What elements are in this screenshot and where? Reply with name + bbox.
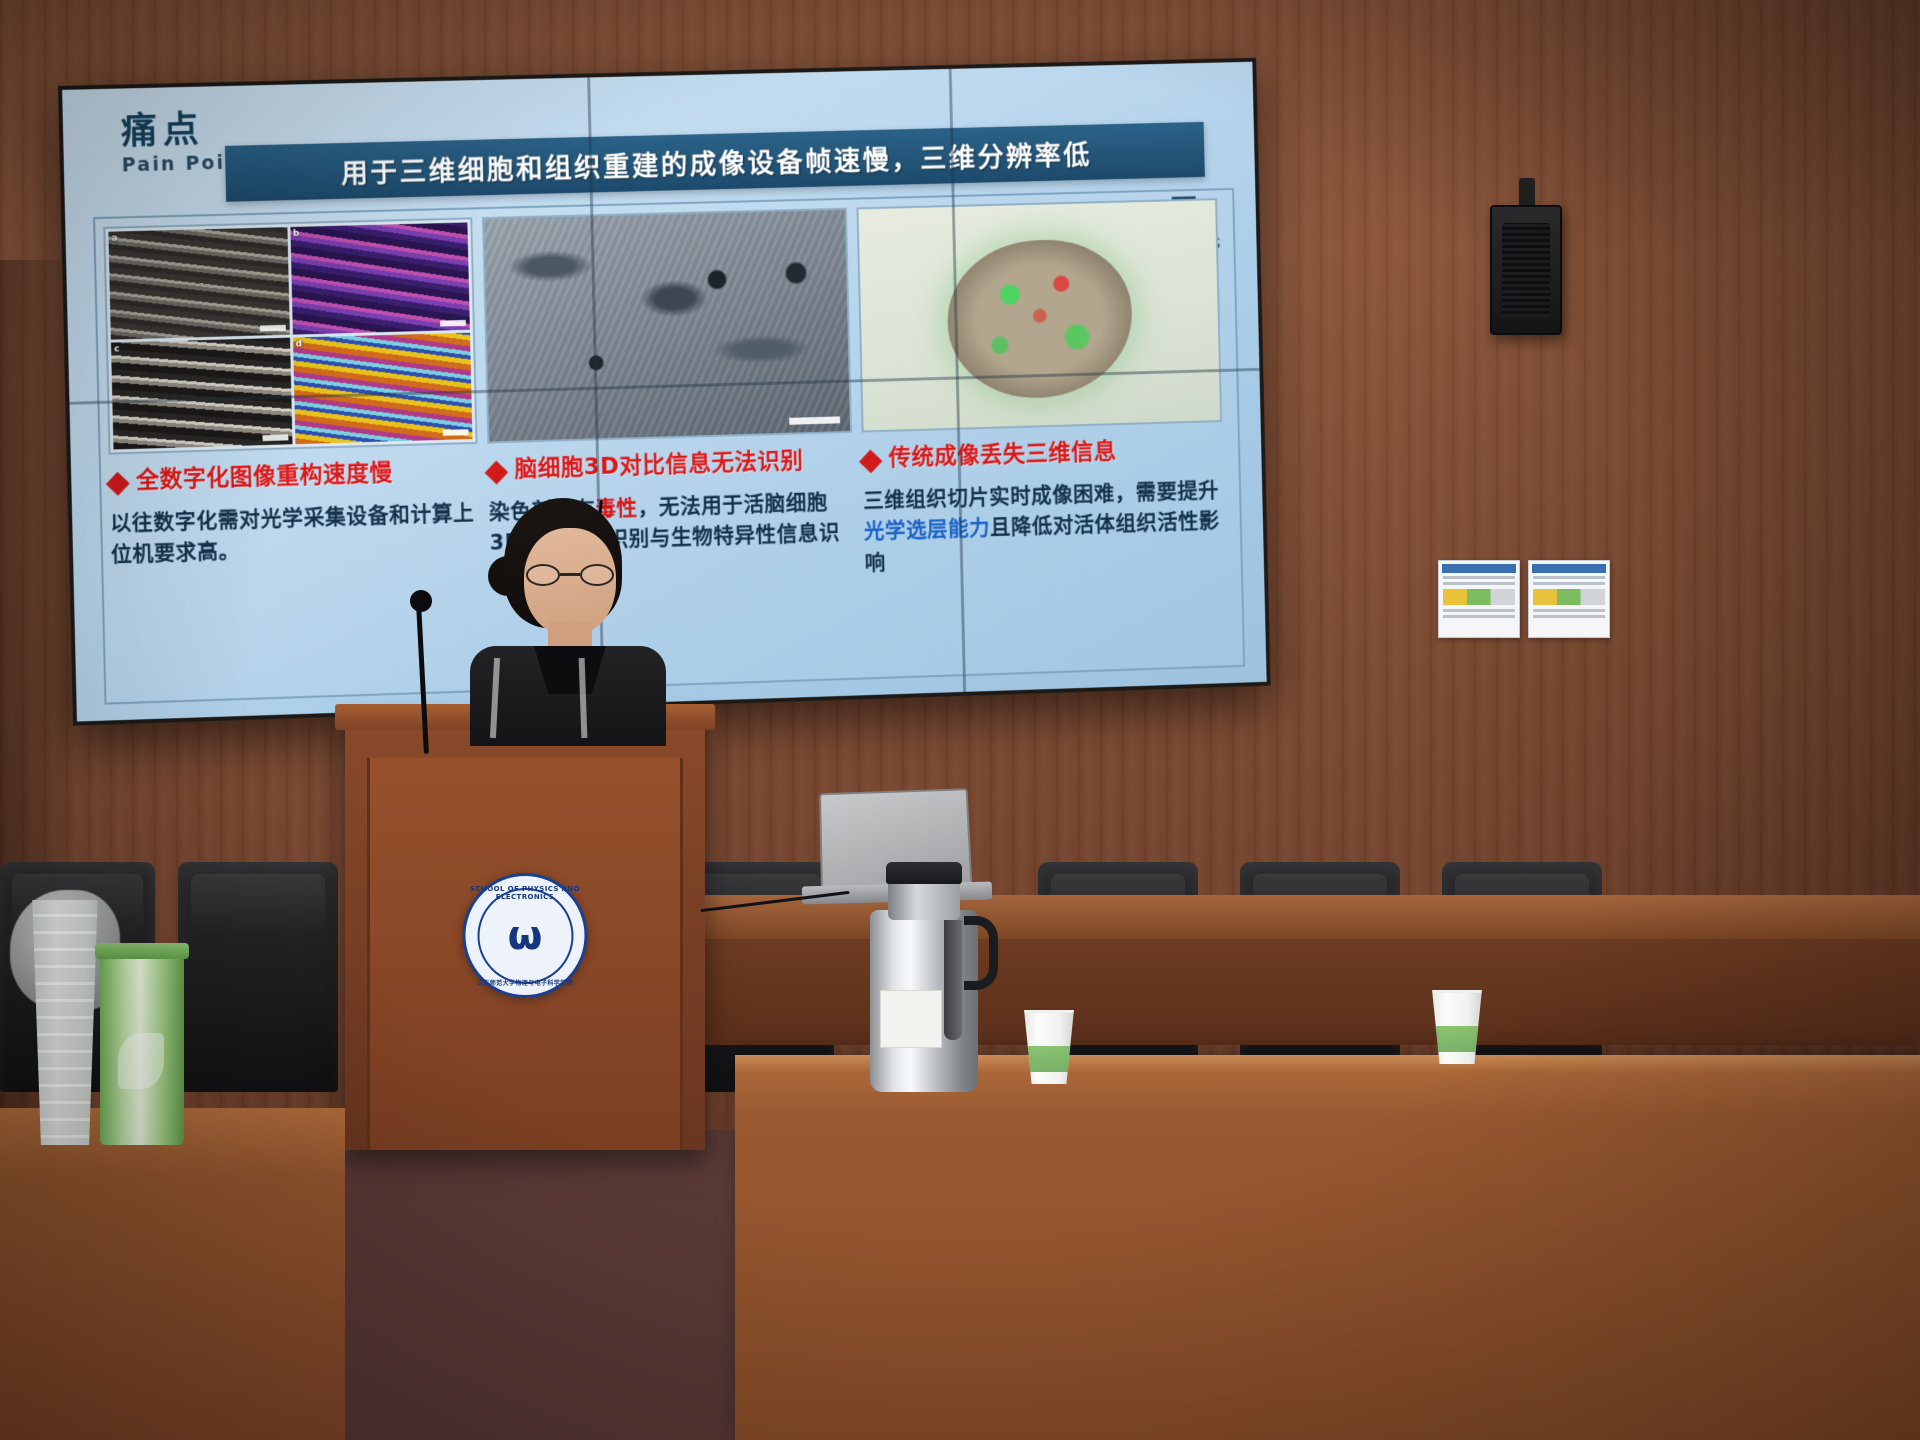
scalebar-icon — [440, 319, 466, 326]
thermos-label — [880, 990, 942, 1048]
emblem-arc-top-text: SCHOOL OF PHYSICS AND ELECTRONICS — [466, 885, 585, 901]
figure-quad-images: a b c d — [103, 217, 477, 454]
figure-panel-d: d — [292, 332, 472, 444]
figure-em-tissue — [482, 208, 852, 444]
body-right: 三维组织切片实时成像困难，需要提升光学选层能力且降低对活体组织活性影响 — [863, 475, 1226, 579]
wall-poster-2 — [1528, 560, 1610, 638]
bullet-middle: 脑细胞3D对比信息无法识别 — [488, 447, 853, 485]
bullet-right: 传统成像丢失三维信息 — [862, 436, 1223, 474]
diamond-bullet-icon — [485, 461, 509, 485]
emblem-arc-bottom-text: 山东师范大学物理与电子科学学院 — [466, 978, 585, 987]
heading-left: 全数字化图像重构速度慢 — [136, 460, 393, 495]
glasses-icon — [526, 564, 614, 586]
figure-tag-a: a — [111, 234, 117, 244]
figure-tag-d: d — [295, 339, 302, 349]
body-right-highlight: 光学选层能力 — [864, 516, 991, 544]
body-right-pre: 三维组织切片实时成像困难，需要提升 — [863, 478, 1219, 512]
figure-panel-c: c — [111, 337, 292, 449]
thermos-handle[interactable] — [964, 916, 998, 990]
figure-panel-a: a — [108, 227, 289, 339]
left-table — [0, 1108, 345, 1440]
slide-column-right: 传统成像丢失三维信息 三维组织切片实时成像困难，需要提升光学选层能力且降低对活体… — [856, 198, 1227, 671]
front-table — [735, 1055, 1920, 1440]
wall-poster-1 — [1438, 560, 1520, 638]
diamond-bullet-icon — [859, 450, 882, 474]
heading-right: 传统成像丢失三维信息 — [888, 439, 1117, 473]
lectern: SCHOOL OF PHYSICS AND ELECTRONICS ω 山东师范… — [345, 718, 705, 1150]
university-emblem: SCHOOL OF PHYSICS AND ELECTRONICS ω 山东师范… — [463, 873, 588, 998]
scalebar-icon — [262, 434, 288, 441]
scalebar-icon — [789, 416, 840, 424]
presenter — [452, 498, 682, 738]
slide-column-left: a b c d — [103, 217, 483, 696]
wall-speaker — [1490, 205, 1562, 335]
recycle-bin[interactable] — [100, 955, 184, 1145]
slide-title-chinese: 痛点 — [121, 112, 205, 150]
chair[interactable] — [178, 862, 338, 1092]
slide-banner-text: 用于三维细胞和组织重建的成像设备帧速慢，三维分辨率低 — [341, 133, 1093, 190]
slide-banner: 用于三维细胞和组织重建的成像设备帧速慢，三维分辨率低 — [225, 122, 1205, 202]
lectern-front-panel: SCHOOL OF PHYSICS AND ELECTRONICS ω 山东师范… — [367, 758, 683, 1150]
figure-tag-c: c — [114, 344, 120, 354]
leaf-icon — [118, 1033, 164, 1089]
bin-lid — [95, 943, 189, 959]
conference-room-scene: 痛点 Pain Point 用于三维细胞和组织重建的成像设备帧速慢，三维分辨率低… — [0, 0, 1920, 1440]
bullet-left: 全数字化图像重构速度慢 — [109, 458, 479, 496]
figure-tag-b: b — [293, 229, 300, 239]
thermos-flask[interactable] — [870, 862, 978, 1092]
figure-organoid — [856, 198, 1222, 432]
figure-panel-b: b — [290, 222, 470, 334]
thermos-spout — [944, 920, 962, 1040]
thermos-lid — [886, 862, 962, 884]
diamond-bullet-icon — [106, 472, 130, 496]
scalebar-icon — [259, 324, 285, 331]
body-left: 以往数字化需对光学采集设备和计算上位机要求高。 — [110, 497, 480, 571]
scalebar-icon — [443, 429, 469, 436]
emblem-center-glyph: ω — [477, 888, 573, 984]
heading-middle: 脑细胞3D对比信息无法识别 — [514, 448, 803, 484]
